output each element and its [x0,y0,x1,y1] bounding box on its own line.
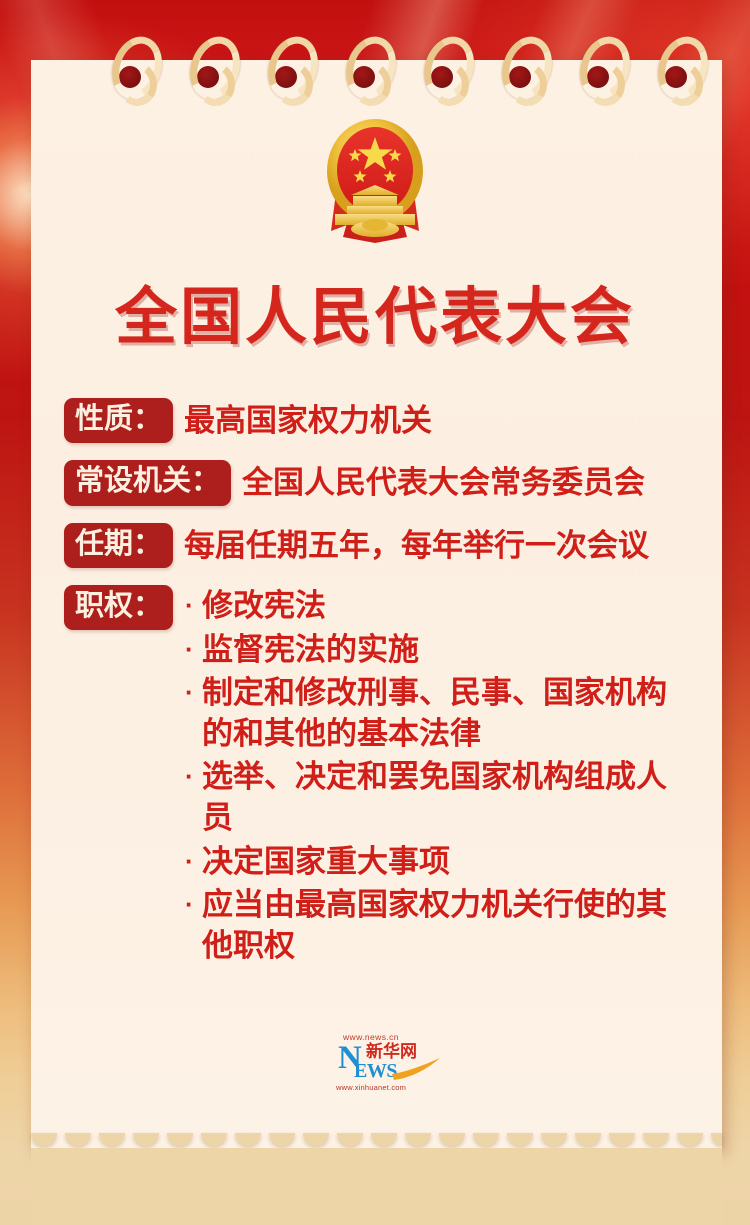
logo-bottom-url: www.xinhuanet.com [336,1083,406,1092]
duties-list: · 修改宪法 · 监督宪法的实施 · 制定和修改刑事、民事、国家机构的和其他的基… [173,585,672,969]
spiral-ring-icon [659,36,693,98]
logo-swoosh-icon [392,1058,442,1082]
bottom-tan-band [31,1148,722,1225]
info-rows: 性质： 最高国家权力机关 常设机关： 全国人民代表大会常务委员会 任期： 每届任… [64,398,704,986]
info-row-term: 任期： 每届任期五年，每年举行一次会议 [64,523,704,568]
value-standing-body: 全国人民代表大会常务委员会 [231,460,645,504]
spiral-ring-icon [269,36,303,98]
bullet-icon: · [185,757,202,838]
badge-label-term: 任期： [64,523,173,568]
list-item: · 制定和修改刑事、民事、国家机构的和其他的基本法律 [185,673,672,754]
badge-label-nature: 性质： [64,398,173,443]
spiral-ring-icon [113,36,147,98]
badge-label-duties: 职权： [64,585,173,630]
page-title: 全国人民代表大会 [0,266,750,356]
national-emblem-icon [317,113,433,249]
list-item-text: 修改宪法 [202,586,326,627]
bullet-icon: · [185,586,202,627]
list-item-text: 选举、决定和罢免国家机构组成人员 [202,757,672,838]
logo-letters-ews: EWS [354,1061,397,1081]
spiral-ring-icon [347,36,381,98]
list-item: · 选举、决定和罢免国家机构组成人员 [185,757,672,838]
xinhua-news-logo: www.news.cn N EWS 新华网 www.xinhuanet.com [330,1032,442,1094]
badge-label-standing-body: 常设机关： [64,460,231,505]
bullet-icon: · [185,630,202,671]
list-item-text: 制定和修改刑事、民事、国家机构的和其他的基本法律 [202,673,672,754]
poster-canvas: 全国人民代表大会 性质： 最高国家权力机关 常设机关： 全国人民代表大会常务委员… [0,0,750,1225]
list-item-text: 应当由最高国家权力机关行使的其他职权 [202,885,672,966]
spiral-ring-icon [581,36,615,98]
list-item: · 决定国家重大事项 [185,842,672,883]
spiral-ring-icon [503,36,537,98]
list-item: · 修改宪法 [185,586,672,627]
value-term: 每届任期五年，每年举行一次会议 [173,523,649,567]
bullet-icon: · [185,885,202,966]
info-row-nature: 性质： 最高国家权力机关 [64,398,704,443]
list-item-text: 监督宪法的实施 [202,630,419,671]
list-item: · 监督宪法的实施 [185,630,672,671]
value-nature: 最高国家权力机关 [173,398,432,442]
info-row-standing-body: 常设机关： 全国人民代表大会常务委员会 [64,460,704,505]
bullet-icon: · [185,842,202,883]
list-item-text: 决定国家重大事项 [202,842,450,883]
info-row-duties: 职权： · 修改宪法 · 监督宪法的实施 · 制定和修改刑事、民事、国家机构的和… [64,585,704,969]
bullet-icon: · [185,673,202,754]
spiral-ring-icon [191,36,225,98]
spiral-ring-icon [425,36,459,98]
list-item: · 应当由最高国家权力机关行使的其他职权 [185,885,672,966]
